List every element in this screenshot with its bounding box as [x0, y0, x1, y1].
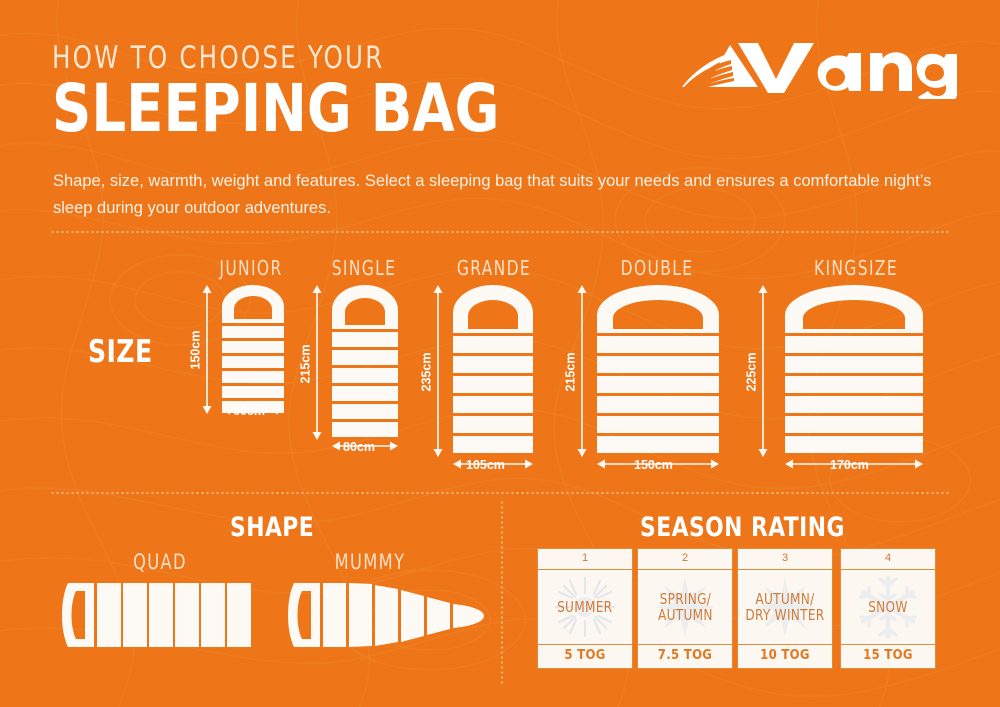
season-card-4-label: SNOW: [868, 599, 907, 616]
season-card-2-body: SPRING/ AUTUMN: [638, 570, 732, 644]
season-card-4[interactable]: 4 SNOW 15 TOG: [840, 548, 936, 669]
vango-logo: [672, 37, 957, 99]
season-card-2[interactable]: 2 SPRING/ AUTUMN 7.5 TOG: [637, 548, 733, 669]
size-label-kingsize: KINGSIZE: [804, 256, 907, 280]
season-card-4-tog: 15 TOG: [841, 644, 935, 668]
size-label-single: SINGLE: [324, 256, 403, 280]
season-card-3-label: AUTUMN/ DRY WINTER: [745, 591, 824, 624]
sleeping-bag-junior: [222, 285, 284, 414]
mummy-sleeping-bag-icon: [288, 583, 484, 647]
season-card-3[interactable]: 3 AUTUMN/ DRY WINTER 10 TOG: [737, 548, 833, 669]
dimension-double-width: 150cm: [634, 458, 673, 472]
dimension-double-height: 215cm: [563, 353, 577, 392]
season-card-1-number: 1: [538, 549, 632, 570]
divider-header: [50, 231, 950, 233]
size-section-heading: SIZE: [88, 334, 153, 370]
quad-sleeping-bag-icon: [62, 583, 258, 647]
sleeping-bag-grande: [453, 285, 533, 457]
sleeping-bag-single: [332, 285, 398, 440]
size-label-double: DOUBLE: [614, 256, 700, 280]
season-card-2-number: 2: [638, 549, 732, 570]
shape-label-quad: QUAD: [117, 550, 203, 574]
season-card-3-number: 3: [738, 549, 832, 570]
season-card-2-tog: 7.5 TOG: [638, 644, 732, 668]
divider-size-section: [50, 492, 950, 494]
season-card-1-body: SUMMER: [538, 570, 632, 644]
season-card-1-label: SUMMER: [557, 599, 612, 616]
dimension-kingsize-height: 225cm: [744, 353, 758, 392]
shape-label-mummy: MUMMY: [323, 550, 418, 574]
infographic-page: HOW TO CHOOSE YOUR SLEEPING BAG Shape, s…: [0, 0, 1000, 707]
sleeping-bag-double: [597, 285, 719, 457]
dimension-junior-height: 150cm: [188, 331, 202, 370]
dimension-grande-height: 235cm: [419, 353, 433, 392]
dimension-junior-width: 60cm: [233, 404, 265, 418]
season-card-2-label: SPRING/ AUTUMN: [658, 591, 713, 624]
divider-shape-season: [501, 500, 503, 686]
dimension-single-width: 80cm: [343, 440, 375, 454]
page-title: SLEEPING BAG: [52, 76, 499, 142]
dimension-kingsize-width: 170cm: [830, 458, 869, 472]
sleeping-bag-kingsize: [785, 285, 923, 457]
season-card-1-tog: 5 TOG: [538, 644, 632, 668]
season-card-3-body: AUTUMN/ DRY WINTER: [738, 570, 832, 644]
season-card-4-number: 4: [841, 549, 935, 570]
season-section-heading: SEASON RATING: [640, 512, 845, 543]
size-label-junior: JUNIOR: [211, 256, 290, 280]
season-card-3-tog: 10 TOG: [738, 644, 832, 668]
header-subtitle: Shape, size, warmth, weight and features…: [53, 168, 943, 221]
size-label-grande: GRANDE: [451, 256, 537, 280]
dimension-grande-width: 105cm: [466, 458, 505, 472]
season-card-1[interactable]: 1 SUMMER 5 TOG: [537, 548, 633, 669]
season-card-4-body: SNOW: [841, 570, 935, 644]
dimension-single-height: 215cm: [298, 345, 312, 384]
shape-section-heading: SHAPE: [230, 512, 314, 543]
